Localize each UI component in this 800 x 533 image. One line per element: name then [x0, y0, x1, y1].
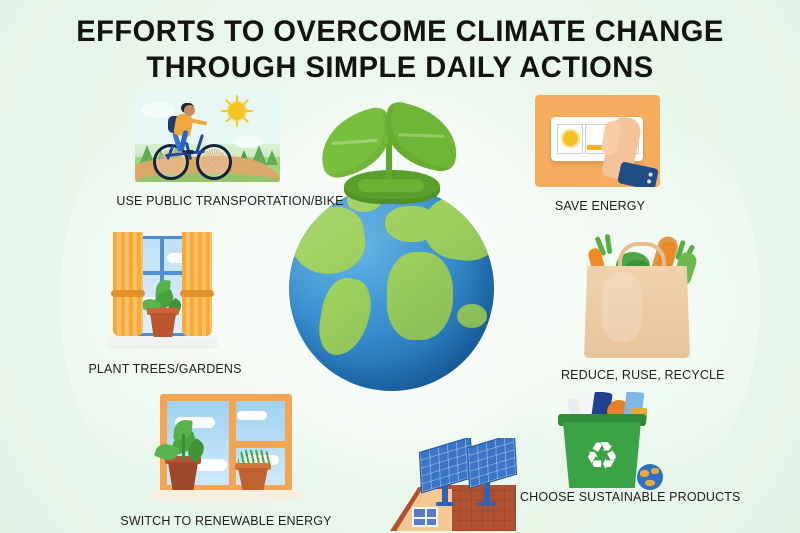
recycle-symbol-icon: ♻ — [579, 436, 625, 478]
infographic-poster: EFFORTS TO OVERCOME CLIMATE CHANGE THROU… — [0, 0, 800, 533]
page-title: EFFORTS TO OVERCOME CLIMATE CHANGE THROU… — [0, 14, 800, 86]
sleeve-cuff — [617, 161, 659, 187]
item-save-energy[interactable]: SAVE ENERGY — [535, 95, 665, 213]
cloud — [237, 411, 267, 420]
solar-panel-house-icon — [390, 438, 520, 533]
flower-pot — [238, 468, 268, 490]
window-mullion — [229, 441, 285, 448]
item-reduce-reuse-recycle[interactable]: REDUCE, RUSE, RECYCLE — [566, 228, 706, 382]
tree-icon — [266, 150, 278, 165]
curtain-tieback — [180, 290, 214, 297]
item-transport[interactable]: USE PUBLIC TRANSPORTATION/BIKE — [135, 92, 325, 208]
plant-stem — [182, 434, 185, 460]
herb-sprig — [605, 234, 613, 255]
window-plants-icon — [146, 392, 306, 502]
leaf-vein — [332, 139, 378, 145]
sun-icon — [228, 102, 246, 120]
curtain-tieback — [111, 290, 145, 297]
globe-shading — [289, 186, 494, 391]
item-label-sustainable-products: CHOOSE SUSTAINABLE PRODUCTS — [520, 490, 710, 504]
title-line-2: THROUGH SIMPLE DAILY ACTIONS — [12, 50, 788, 86]
leaf-vein — [398, 133, 444, 138]
cyclist-icon — [135, 92, 280, 182]
title-line-1: EFFORTS TO OVERCOME CLIMATE CHANGE — [12, 14, 788, 50]
flower-pot — [168, 462, 198, 490]
item-renewable[interactable]: SWITCH TO RENEWABLE ENERGY — [146, 392, 306, 528]
item-label-save-energy: SAVE ENERGY — [535, 199, 665, 213]
item-label-plant-trees: PLANT TREES/GARDENS — [30, 362, 300, 376]
house-window — [412, 507, 438, 527]
light-switch-hand-icon — [535, 95, 660, 187]
curtain-left — [113, 232, 143, 336]
lightbulb-icon — [561, 129, 580, 148]
rider-head — [184, 105, 195, 116]
item-label-transport: USE PUBLIC TRANSPORTATION/BIKE — [80, 194, 380, 208]
rider-foot — [185, 150, 194, 154]
panel-base — [478, 502, 496, 506]
item-sustainable-products[interactable]: ♻ CHOOSE SUSTAINABLE PRODUCTS — [545, 392, 665, 504]
item-plant-trees[interactable]: PLANT TREES/GARDENS — [100, 232, 230, 376]
item-label-reduce-reuse-recycle: REDUCE, RUSE, RECYCLE — [561, 368, 711, 382]
window-plant-icon — [100, 232, 225, 350]
paper-bag — [584, 266, 690, 358]
grocery-bag-icon — [566, 228, 706, 358]
item-solar[interactable] — [390, 438, 520, 533]
flower-pot — [150, 313, 176, 337]
solar-panel — [467, 438, 517, 489]
curtain-right — [182, 232, 212, 336]
recycle-bin-icon: ♻ — [545, 392, 665, 492]
window-sill — [150, 490, 302, 500]
globe-icon — [289, 186, 494, 391]
rider-arm — [190, 118, 207, 125]
small-globe-icon — [637, 464, 663, 490]
window-sill — [108, 337, 217, 346]
item-label-renewable: SWITCH TO RENEWABLE ENERGY — [106, 514, 346, 528]
panel-base — [436, 502, 454, 506]
